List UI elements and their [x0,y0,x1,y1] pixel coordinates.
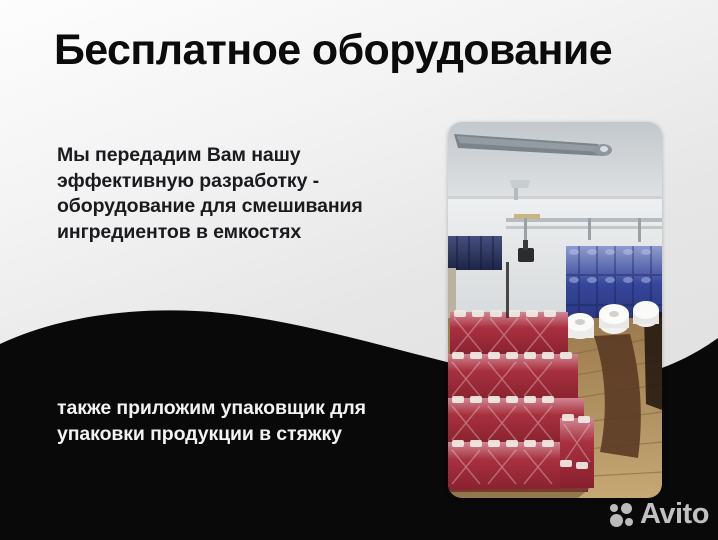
avito-dot-top-right [621,503,632,514]
page-title: Бесплатное оборудование [54,24,694,76]
avito-dots-icon [610,503,635,527]
avito-dot-top-left [610,504,618,512]
avito-dot-bottom-right [625,518,633,526]
intro-paragraph: Мы передадим Вам нашу эффективную разраб… [57,143,432,245]
warehouse-photo [448,122,662,498]
avito-watermark: Avito [610,500,709,529]
warehouse-photo-illustration [448,122,662,498]
secondary-paragraph: также приложим упаковщик для упаковки пр… [57,396,387,447]
slide-canvas: Бесплатное оборудование Мы передадим Вам… [0,0,718,540]
avito-wordmark: Avito [640,500,709,529]
avito-dot-bottom-left [610,514,623,527]
